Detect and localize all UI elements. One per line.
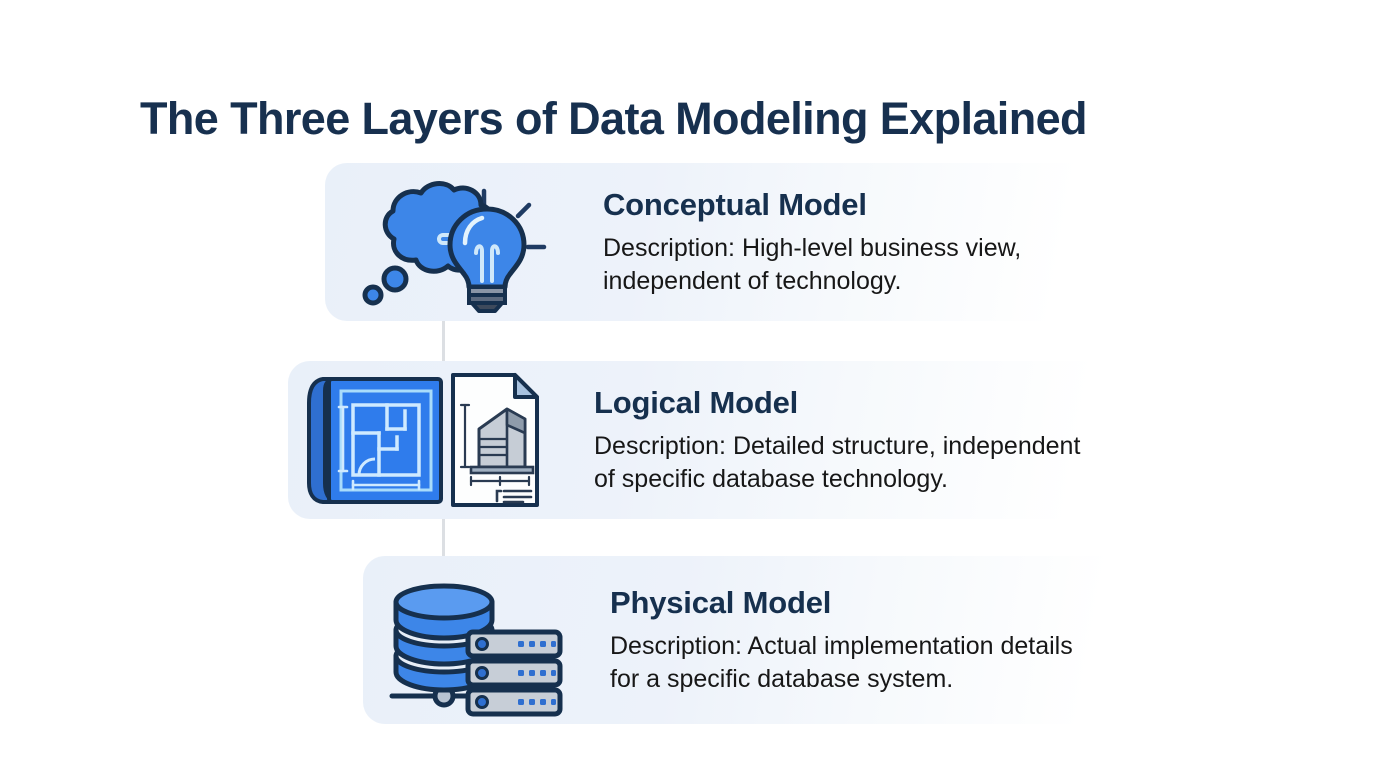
infographic-page: The Three Layers of Data Modeling Explai… [0,0,1376,768]
icon-slot-logical [296,370,556,510]
icon-slot-conceptual [337,172,567,312]
card-description-logical: Description: Detailed structure, indepen… [594,430,1178,496]
card-heading-conceptual: Conceptual Model [603,187,1155,223]
thought-cloud-lightbulb-icon [345,175,560,310]
card-body-physical: Physical Model Description: Actual imple… [572,585,1183,696]
icon-slot-physical [377,565,572,715]
card-description-conceptual: Description: High-level business view, i… [603,232,1155,298]
database-server-icon [382,568,567,713]
page-title: The Three Layers of Data Modeling Explai… [140,94,1260,144]
card-logical-model[interactable]: Logical Model Description: Detailed stru… [288,361,1178,519]
card-body-conceptual: Conceptual Model Description: High-level… [567,187,1155,298]
card-body-logical: Logical Model Description: Detailed stru… [556,385,1178,496]
card-description-physical: Description: Actual implementation detai… [610,630,1183,696]
card-heading-physical: Physical Model [610,585,1183,621]
blueprint-document-icon [301,371,551,509]
card-conceptual-model[interactable]: Conceptual Model Description: High-level… [325,163,1155,321]
card-heading-logical: Logical Model [594,385,1178,421]
card-physical-model[interactable]: Physical Model Description: Actual imple… [363,556,1183,724]
